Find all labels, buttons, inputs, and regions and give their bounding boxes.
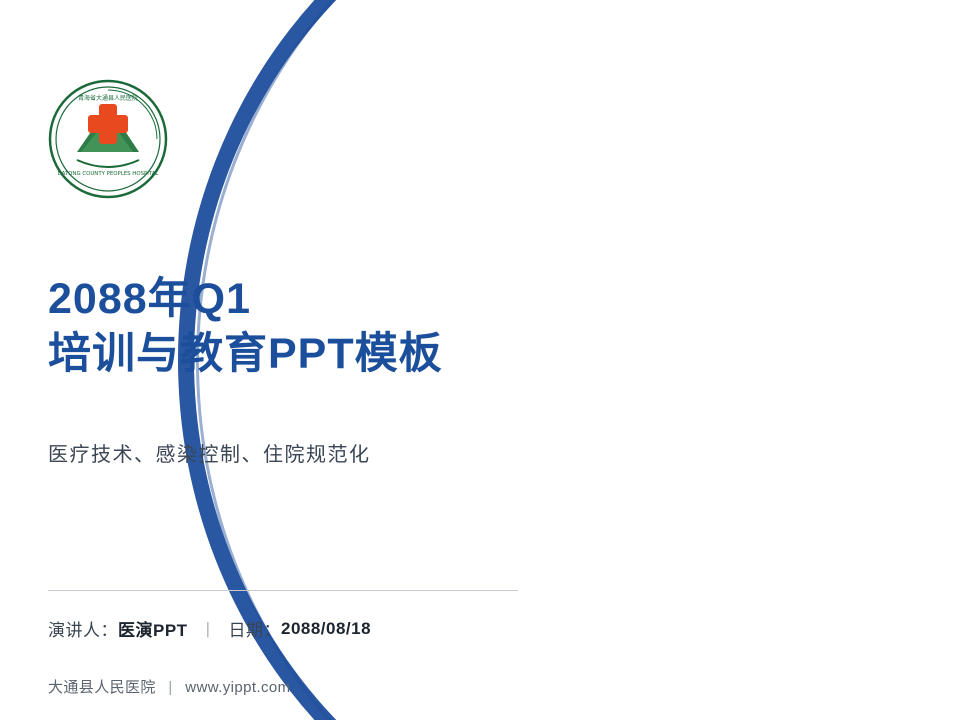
meta-row: 演讲人： 医演PPT | 日期： 2088/08/18	[48, 616, 371, 641]
presentation-slide: DATONG COUNTY PEOPLES HOSPITAL 青海省大通县人民医…	[0, 0, 960, 720]
svg-text:青海省大通县人民医院: 青海省大通县人民医院	[78, 94, 138, 102]
footer: 大通县人民医院 | www.yippt.com	[48, 676, 291, 697]
title-line-1: 2088年Q1	[48, 272, 528, 327]
subtitle: 医疗技术、感染控制、住院规范化	[48, 438, 371, 467]
meta-separator: |	[206, 619, 211, 639]
date-label: 日期：	[228, 616, 281, 641]
footer-separator: |	[168, 679, 172, 696]
footer-organization: 大通县人民医院	[48, 679, 156, 696]
title-line-2: 培训与教育PPT模板	[48, 327, 528, 382]
page-title: 2088年Q1 培训与教育PPT模板	[48, 272, 528, 382]
divider	[48, 590, 518, 591]
watermark-icon: ©	[922, 688, 942, 708]
presenter-value: 医演PPT	[118, 616, 188, 641]
presenter-label: 演讲人：	[48, 616, 118, 641]
date-value: 2088/08/18	[281, 619, 371, 639]
slide-content: DATONG COUNTY PEOPLES HOSPITAL 青海省大通县人民医…	[0, 0, 560, 720]
footer-website: www.yippt.com	[185, 679, 290, 696]
svg-text:DATONG COUNTY PEOPLES HOSPITAL: DATONG COUNTY PEOPLES HOSPITAL	[58, 171, 159, 177]
hospital-logo: DATONG COUNTY PEOPLES HOSPITAL 青海省大通县人民医…	[47, 78, 169, 200]
